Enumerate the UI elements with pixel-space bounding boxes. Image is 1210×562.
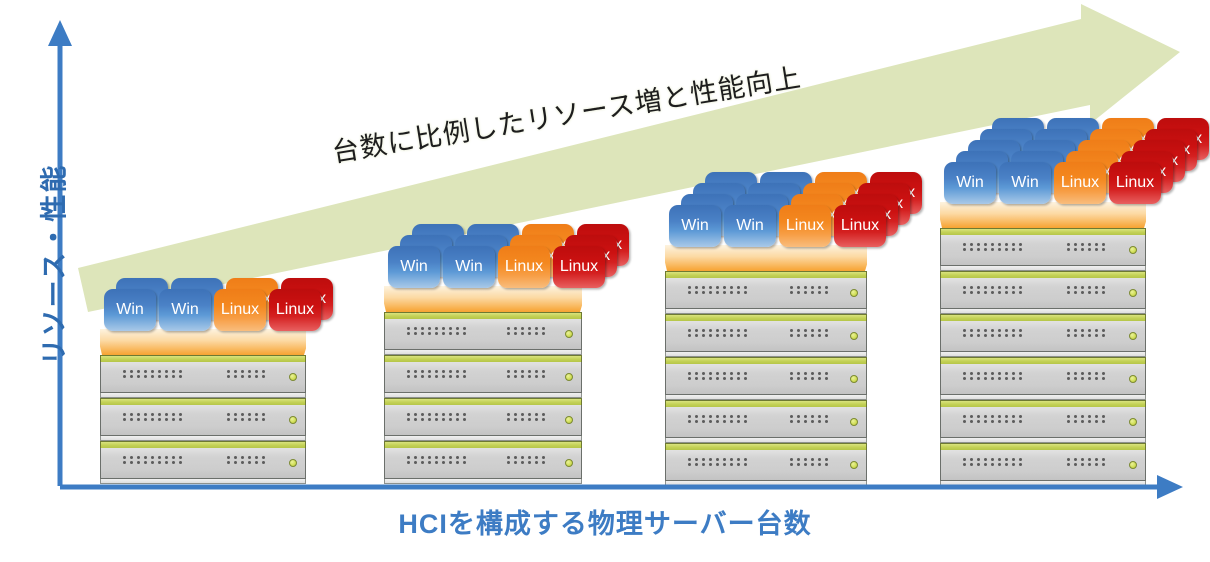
vent-dots-right-icon (507, 413, 547, 421)
vm-layer: WinWinLinuxLinux (944, 162, 1164, 204)
vm-cluster: WinWinLinuxLinuxWinWinLinuxLinuxWinWinLi… (944, 118, 1209, 204)
x-axis-label: HCIを構成する物理サーバー台数 (0, 502, 1210, 541)
vent-dots-right-icon (790, 329, 830, 337)
server-unit-top-bar (665, 443, 867, 450)
server-unit-body (665, 407, 867, 438)
status-led-icon (289, 416, 297, 424)
vent-dots-right-icon (790, 415, 830, 423)
server-unit-top-bar (384, 312, 582, 319)
status-led-icon (1129, 461, 1137, 469)
server-unit-body (940, 407, 1146, 438)
vent-dots-left-icon (963, 329, 1024, 337)
vm-box-win[interactable]: Win (388, 246, 440, 288)
vent-dots-left-icon (407, 327, 468, 335)
server-unit-body (384, 319, 582, 350)
vm-box-win[interactable]: Win (443, 246, 495, 288)
server-unit-top-bar (100, 398, 306, 405)
vm-box-linux[interactable]: Linux (1109, 162, 1161, 204)
vent-dots-left-icon (407, 413, 468, 421)
vm-box-linux[interactable]: Linux (214, 289, 266, 331)
vm-box-label: Linux (505, 259, 543, 275)
server-unit-foot (384, 479, 582, 484)
status-led-icon (1129, 246, 1137, 254)
vent-dots-left-icon (123, 456, 184, 464)
server-unit-body (384, 448, 582, 479)
vent-dots-right-icon (1067, 329, 1107, 337)
vent-dots-left-icon (123, 370, 184, 378)
status-led-icon (289, 459, 297, 467)
status-led-icon (850, 375, 858, 383)
server-unit-body (940, 235, 1146, 266)
vent-dots-left-icon (963, 458, 1024, 466)
server-unit (665, 443, 867, 486)
status-led-icon (1129, 418, 1137, 426)
vent-dots-right-icon (227, 370, 267, 378)
vm-cluster: WinWinLinuxLinuxWinWinLinuxLinuxWinWinLi… (388, 224, 629, 288)
server-unit-body (100, 448, 306, 479)
vent-dots-right-icon (227, 456, 267, 464)
server-rack (100, 355, 306, 484)
server-unit (665, 400, 867, 443)
vm-layer: WinWinLinuxLinux (669, 205, 889, 247)
vent-dots-right-icon (507, 456, 547, 464)
status-led-icon (565, 459, 573, 467)
stack-2: WinWinLinuxLinuxWinWinLinuxLinuxWinWinLi… (384, 0, 582, 562)
server-unit-foot (665, 481, 867, 486)
vent-dots-right-icon (507, 370, 547, 378)
vm-cluster: WinWinLinuxLinuxWinWinLinuxLinuxWinWinLi… (669, 172, 922, 247)
virtualization-layer (940, 202, 1146, 228)
server-unit-top-bar (384, 398, 582, 405)
vent-dots-right-icon (1067, 372, 1107, 380)
server-unit-foot (940, 481, 1146, 486)
server-unit-body (940, 364, 1146, 395)
vent-dots-right-icon (790, 458, 830, 466)
server-unit-top-bar (100, 441, 306, 448)
server-unit (665, 271, 867, 314)
vent-dots-right-icon (1067, 415, 1107, 423)
vm-box-label: Win (681, 218, 709, 234)
vent-dots-left-icon (688, 415, 749, 423)
server-unit (940, 314, 1146, 357)
server-unit-top-bar (940, 271, 1146, 278)
server-unit (940, 443, 1146, 486)
y-axis-label: リソース・性能 (33, 135, 72, 395)
server-unit-top-bar (665, 357, 867, 364)
virtualization-layer (665, 245, 867, 271)
server-unit-top-bar (940, 357, 1146, 364)
server-unit (384, 441, 582, 484)
vm-box-linux[interactable]: Linux (1054, 162, 1106, 204)
server-unit (384, 398, 582, 441)
vm-layer: WinWinLinuxLinux (388, 246, 608, 288)
server-unit (940, 400, 1146, 443)
vent-dots-right-icon (790, 372, 830, 380)
status-led-icon (1129, 375, 1137, 383)
vm-box-win[interactable]: Win (669, 205, 721, 247)
vm-box-label: Win (455, 259, 483, 275)
server-unit-top-bar (940, 400, 1146, 407)
server-rack (665, 271, 867, 486)
vent-dots-left-icon (688, 329, 749, 337)
vm-box-label: Linux (1116, 175, 1154, 191)
server-unit-body (384, 405, 582, 436)
server-unit-body (665, 450, 867, 481)
vm-box-win[interactable]: Win (104, 289, 156, 331)
server-unit-top-bar (665, 271, 867, 278)
vm-layer: WinWinLinuxLinux (104, 289, 324, 331)
vent-dots-right-icon (507, 327, 547, 335)
status-led-icon (1129, 332, 1137, 340)
virtualization-layer (100, 329, 306, 355)
vent-dots-right-icon (227, 413, 267, 421)
diagram-canvas: 台数に比例したリソース増と性能向上 WinWinLinuxLinuxWinWin… (0, 0, 1210, 562)
vm-box-win[interactable]: Win (944, 162, 996, 204)
vent-dots-right-icon (1067, 243, 1107, 251)
server-unit-body (665, 321, 867, 352)
server-unit-body (940, 278, 1146, 309)
server-unit (940, 271, 1146, 314)
stack-4: WinWinLinuxLinuxWinWinLinuxLinuxWinWinLi… (940, 0, 1146, 562)
server-unit (665, 357, 867, 400)
vent-dots-left-icon (688, 372, 749, 380)
server-unit (384, 312, 582, 355)
status-led-icon (850, 332, 858, 340)
vent-dots-left-icon (407, 370, 468, 378)
server-unit (940, 357, 1146, 400)
vm-box-win[interactable]: Win (159, 289, 211, 331)
vm-box-label: Linux (276, 302, 314, 318)
server-unit (100, 441, 306, 484)
vm-box-label: Linux (786, 218, 824, 234)
status-led-icon (850, 461, 858, 469)
server-unit-foot (100, 479, 306, 484)
server-unit-top-bar (665, 400, 867, 407)
server-unit-body (665, 364, 867, 395)
server-unit-top-bar (384, 441, 582, 448)
server-unit (665, 314, 867, 357)
server-unit (384, 355, 582, 398)
vm-box-label: Win (116, 302, 144, 318)
vm-box-label: Linux (221, 302, 259, 318)
vm-box-label: Win (736, 218, 764, 234)
server-rack (384, 312, 582, 484)
vm-box-label: Linux (841, 218, 879, 234)
vent-dots-left-icon (407, 456, 468, 464)
stack-1: WinWinLinuxLinuxWinWinLinuxLinux (100, 0, 306, 562)
vent-dots-left-icon (963, 286, 1024, 294)
server-unit-body (384, 362, 582, 393)
vm-box-label: Linux (1061, 175, 1099, 191)
server-unit-top-bar (940, 443, 1146, 450)
server-unit-top-bar (384, 355, 582, 362)
server-unit (100, 355, 306, 398)
server-unit (940, 228, 1146, 271)
server-unit-top-bar (940, 228, 1146, 235)
status-led-icon (850, 418, 858, 426)
status-led-icon (1129, 289, 1137, 297)
vm-box-win[interactable]: Win (999, 162, 1051, 204)
server-unit-body (665, 278, 867, 309)
vent-dots-left-icon (123, 413, 184, 421)
stack-3: WinWinLinuxLinuxWinWinLinuxLinuxWinWinLi… (665, 0, 867, 562)
vm-box-label: Win (956, 175, 984, 191)
vent-dots-right-icon (1067, 458, 1107, 466)
vm-box-label: Win (1011, 175, 1039, 191)
server-unit-top-bar (665, 314, 867, 321)
vent-dots-left-icon (963, 372, 1024, 380)
vm-box-linux[interactable]: Linux (834, 205, 886, 247)
status-led-icon (565, 373, 573, 381)
vm-box-linux[interactable]: Linux (779, 205, 831, 247)
server-unit-top-bar (100, 355, 306, 362)
vm-box-linux[interactable]: Linux (269, 289, 321, 331)
server-unit-body (940, 450, 1146, 481)
vm-cluster: WinWinLinuxLinuxWinWinLinuxLinux (104, 278, 333, 331)
vm-box-label: Win (400, 259, 428, 275)
server-unit-body (100, 405, 306, 436)
vm-box-label: Linux (560, 259, 598, 275)
vm-box-linux[interactable]: Linux (553, 246, 605, 288)
status-led-icon (565, 330, 573, 338)
vent-dots-left-icon (963, 415, 1024, 423)
server-rack (940, 228, 1146, 486)
server-unit (100, 398, 306, 441)
server-unit-body (940, 321, 1146, 352)
vm-box-linux[interactable]: Linux (498, 246, 550, 288)
vent-dots-left-icon (688, 286, 749, 294)
server-unit-top-bar (940, 314, 1146, 321)
vent-dots-left-icon (963, 243, 1024, 251)
vent-dots-left-icon (688, 458, 749, 466)
status-led-icon (289, 373, 297, 381)
vent-dots-right-icon (1067, 286, 1107, 294)
vm-box-label: Win (171, 302, 199, 318)
vent-dots-right-icon (790, 286, 830, 294)
server-unit-body (100, 362, 306, 393)
virtualization-layer (384, 286, 582, 312)
status-led-icon (565, 416, 573, 424)
vm-box-win[interactable]: Win (724, 205, 776, 247)
status-led-icon (850, 289, 858, 297)
